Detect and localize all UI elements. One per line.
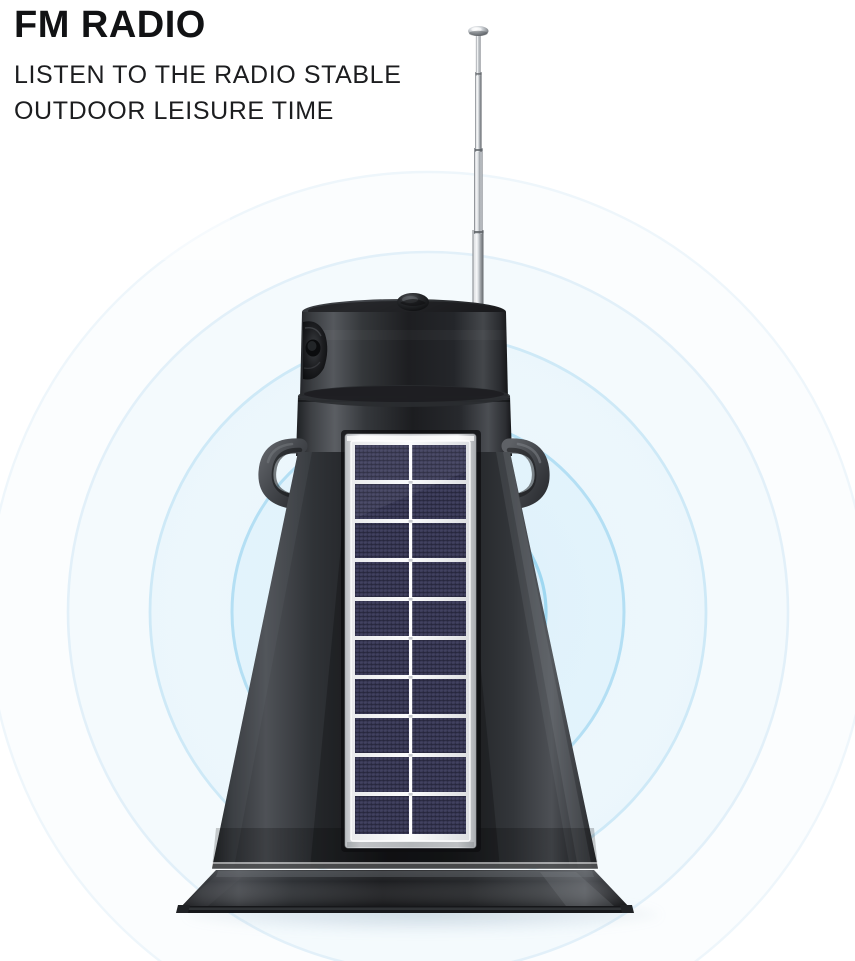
page-title: FM RADIO [14, 6, 401, 44]
subtitle-line-1: LISTEN TO THE RADIO STABLE [14, 58, 401, 94]
upper-cylinder-housing [300, 293, 508, 410]
strap-loop-right [509, 444, 542, 502]
shoulder-collar [296, 385, 512, 456]
product-image-scene: FM RADIO LISTEN TO THE RADIO STABLE OUTD… [0, 0, 855, 961]
solar-fm-radio-lantern [0, 0, 855, 961]
telescopic-antenna [468, 26, 488, 314]
antenna-tip-knob [468, 26, 488, 36]
strap-attachment-loops [266, 444, 542, 502]
flared-base-skirt [176, 862, 634, 913]
solar-panel-bezel [345, 434, 476, 848]
solar-panel [341, 430, 481, 852]
subtitle-line-2: OUTDOOR LEISURE TIME [14, 94, 401, 130]
top-control-knob [397, 293, 429, 311]
strap-loop-left [266, 444, 300, 502]
top-cap [302, 299, 506, 325]
headline-text-block: FM RADIO LISTEN TO THE RADIO STABLE OUTD… [14, 6, 401, 129]
solar-cell-grid [355, 445, 466, 834]
tapered-cone-body [212, 452, 598, 868]
left-side-control-port [303, 321, 327, 379]
ground-shadow [186, 898, 660, 932]
radio-wave-rings [0, 0, 855, 961]
